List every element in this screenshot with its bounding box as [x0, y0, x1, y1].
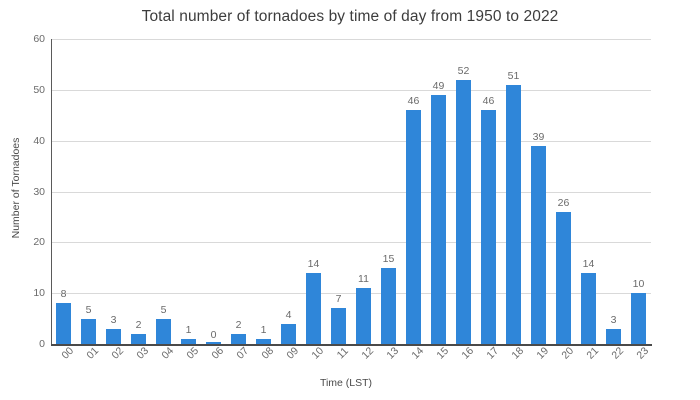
bar[interactable] — [106, 329, 121, 344]
bar-slot[interactable]: 46 — [401, 39, 426, 344]
bar-value-label: 46 — [476, 95, 501, 107]
y-axis-tick-label: 40 — [1, 135, 45, 147]
y-axis-line — [51, 39, 52, 345]
bar[interactable] — [81, 319, 96, 344]
bar[interactable] — [581, 273, 596, 344]
bar[interactable] — [531, 146, 546, 344]
bar-value-label: 11 — [351, 273, 376, 285]
bar-slot[interactable]: 0 — [201, 39, 226, 344]
bar-slot[interactable]: 3 — [601, 39, 626, 344]
bar[interactable] — [331, 308, 346, 344]
y-axis-tick-label: 50 — [1, 84, 45, 96]
bar[interactable] — [431, 95, 446, 344]
bar-slot[interactable]: 3 — [101, 39, 126, 344]
bar-value-label: 52 — [451, 65, 476, 77]
bar-slot[interactable]: 5 — [76, 39, 101, 344]
bar-slot[interactable]: 10 — [626, 39, 651, 344]
bar-value-label: 14 — [576, 258, 601, 270]
bar-value-label: 49 — [426, 80, 451, 92]
bar-slot[interactable]: 2 — [226, 39, 251, 344]
y-axis-tick-label: 30 — [1, 186, 45, 198]
bar-value-label: 5 — [151, 304, 176, 316]
bar[interactable] — [281, 324, 296, 344]
bar-value-label: 8 — [51, 288, 76, 300]
bar[interactable] — [606, 329, 621, 344]
bar-value-label: 2 — [126, 319, 151, 331]
bar-slot[interactable]: 8 — [51, 39, 76, 344]
bar-slot[interactable]: 5 — [151, 39, 176, 344]
y-axis-tick-label: 20 — [1, 236, 45, 248]
bar[interactable] — [456, 80, 471, 344]
bar-value-label: 14 — [301, 258, 326, 270]
bar-slot[interactable]: 39 — [526, 39, 551, 344]
bar-value-label: 4 — [276, 309, 301, 321]
bar-value-label: 39 — [526, 131, 551, 143]
y-axis-tick-label: 60 — [1, 33, 45, 45]
bar-slot[interactable]: 4 — [276, 39, 301, 344]
y-axis-tick-label: 0 — [1, 338, 45, 350]
bar-value-label: 7 — [326, 293, 351, 305]
chart-title: Total number of tornadoes by time of day… — [0, 8, 700, 26]
bar-slot[interactable]: 46 — [476, 39, 501, 344]
bar-slot[interactable]: 1 — [176, 39, 201, 344]
bar[interactable] — [406, 110, 421, 344]
bar-slot[interactable]: 49 — [426, 39, 451, 344]
bar[interactable] — [56, 303, 71, 344]
plot-area: 853251021414711154649524651392614310 — [51, 39, 651, 344]
bar-slot[interactable]: 14 — [576, 39, 601, 344]
bar[interactable] — [306, 273, 321, 344]
bar-value-label: 3 — [601, 314, 626, 326]
bar-slot[interactable]: 26 — [551, 39, 576, 344]
bar-slot[interactable]: 51 — [501, 39, 526, 344]
bar-slot[interactable]: 52 — [451, 39, 476, 344]
bar-value-label: 51 — [501, 70, 526, 82]
bar-chart: Total number of tornadoes by time of day… — [0, 0, 700, 400]
bar[interactable] — [631, 293, 646, 344]
x-axis-title: Time (LST) — [276, 377, 416, 389]
bar-value-label: 1 — [251, 324, 276, 336]
bar-slot[interactable]: 7 — [326, 39, 351, 344]
bar-slot[interactable]: 14 — [301, 39, 326, 344]
bar[interactable] — [481, 110, 496, 344]
bar-value-label: 1 — [176, 324, 201, 336]
y-axis-tick-labels: 0102030405060 — [0, 0, 45, 400]
bar[interactable] — [556, 212, 571, 344]
y-axis-tick-label: 10 — [1, 287, 45, 299]
bar[interactable] — [156, 319, 171, 344]
bar-slot[interactable]: 1 — [251, 39, 276, 344]
bar-value-label: 10 — [626, 278, 651, 290]
bar-value-label: 15 — [376, 253, 401, 265]
bar-value-label: 3 — [101, 314, 126, 326]
bar-value-label: 26 — [551, 197, 576, 209]
bar-value-label: 5 — [76, 304, 101, 316]
bar[interactable] — [381, 268, 396, 344]
bar-slot[interactable]: 2 — [126, 39, 151, 344]
bar[interactable] — [356, 288, 371, 344]
bar-value-label: 2 — [226, 319, 251, 331]
bar-value-label: 46 — [401, 95, 426, 107]
bar-slot[interactable]: 15 — [376, 39, 401, 344]
bar[interactable] — [506, 85, 521, 344]
bar-slot[interactable]: 11 — [351, 39, 376, 344]
